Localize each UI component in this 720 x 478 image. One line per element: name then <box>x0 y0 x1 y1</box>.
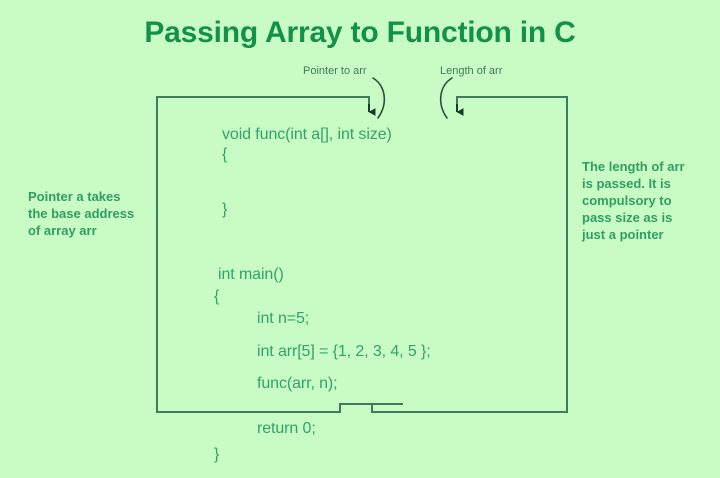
label-pointer-to-arr: Pointer to arr <box>303 65 367 77</box>
code-return-statement: return 0; <box>257 420 316 438</box>
code-function-close-brace: } <box>222 201 227 219</box>
page-title: Passing Array to Function in C <box>0 16 720 50</box>
code-main-open-brace: { <box>214 288 219 306</box>
length-of-arr-curve <box>441 78 452 118</box>
diagram-canvas: Passing Array to Function in C <box>0 0 720 478</box>
code-decl-n: int n=5; <box>257 310 309 328</box>
code-main-close-brace: } <box>214 446 219 464</box>
code-decl-arr: int arr[5] = {1, 2, 3, 4, 5 }; <box>257 343 431 361</box>
note-right-length-passed: The length of arr is passed. It is compu… <box>582 158 712 243</box>
note-left-pointer-base-address: Pointer a takes the base address of arra… <box>28 188 168 239</box>
bottom-right-connector-line <box>372 404 567 412</box>
label-length-of-arr: Length of arr <box>440 65 502 77</box>
code-function-signature: void func(int a[], int size) <box>222 126 392 144</box>
code-call-func: func(arr, n); <box>257 375 338 393</box>
code-main-signature: int main() <box>218 266 284 284</box>
pointer-to-arr-curve <box>373 78 384 118</box>
top-left-rail-line <box>157 97 369 106</box>
top-right-rail-line <box>457 97 567 106</box>
bottom-left-connector-line <box>157 404 372 412</box>
code-function-open-brace: { <box>222 146 227 164</box>
